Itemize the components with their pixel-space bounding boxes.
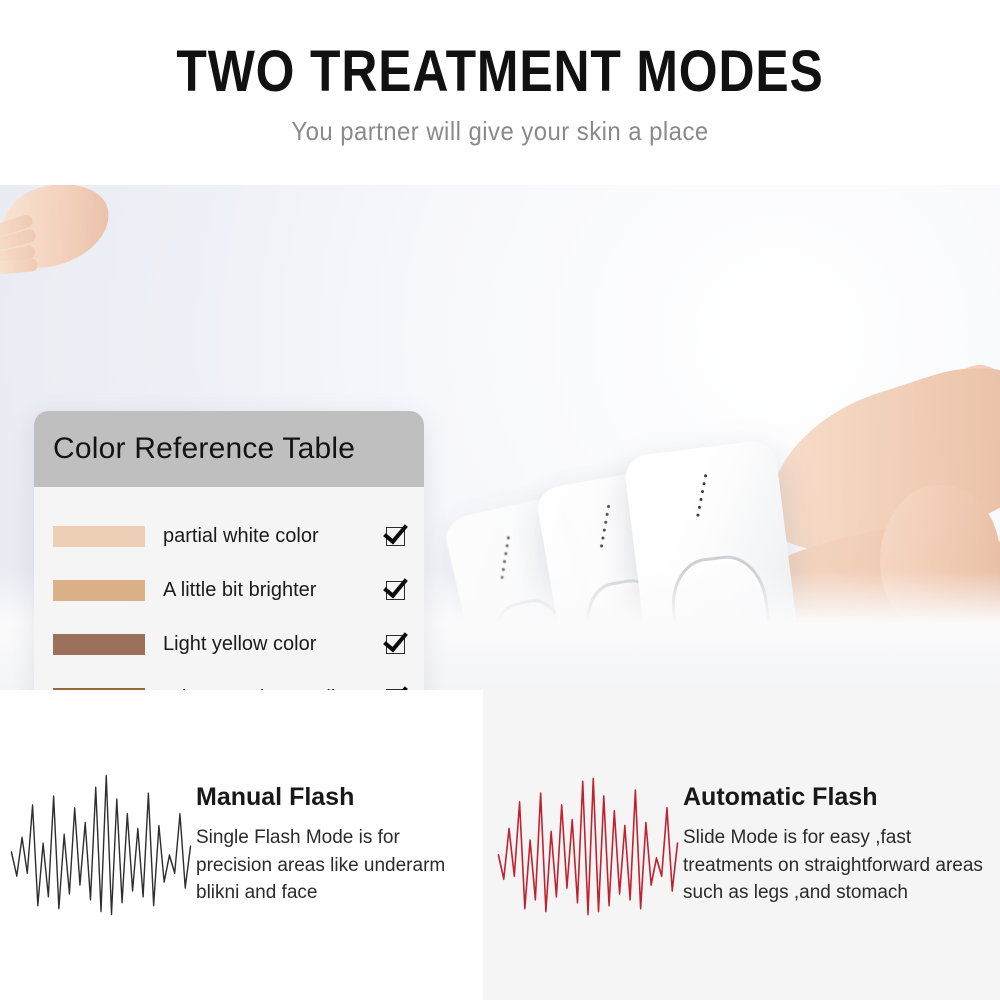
color-reference-table: Color Reference Table partial white colo… xyxy=(34,411,424,690)
automatic-mode-title: Automatic Flash xyxy=(683,783,990,812)
mode-panel-automatic: Automatic Flash Slide Mode is for easy ,… xyxy=(483,690,1000,1000)
indicator-dots-icon xyxy=(600,505,610,548)
checkmark-icon[interactable] xyxy=(386,527,405,546)
color-reference-row: Wheat & Chamomile xyxy=(34,671,424,690)
automatic-mode-text: Automatic Flash Slide Mode is for easy ,… xyxy=(683,783,1000,907)
mode-panel-manual: Manual Flash Single Flash Mode is for pr… xyxy=(0,690,483,1000)
color-reference-row: partial white color xyxy=(34,509,424,563)
waveform-icon xyxy=(8,770,194,920)
treatment-modes-section: Manual Flash Single Flash Mode is for pr… xyxy=(0,690,1000,1000)
checkmark-icon[interactable] xyxy=(386,635,405,654)
automatic-waveform-icon xyxy=(493,770,683,920)
indicator-dots-icon xyxy=(696,474,707,517)
manual-mode-description: Single Flash Mode is for precision areas… xyxy=(196,824,473,907)
product-infographic-page: TWO TREATMENT MODES You partner will giv… xyxy=(0,0,1000,1000)
manual-waveform-icon xyxy=(6,770,196,920)
skin-tone-label: A little bit brighter xyxy=(163,579,386,602)
skin-tone-swatch xyxy=(53,526,145,547)
manual-mode-text: Manual Flash Single Flash Mode is for pr… xyxy=(196,783,483,907)
waveform-icon xyxy=(495,770,681,920)
color-reference-table-header: Color Reference Table xyxy=(34,411,424,487)
skin-tone-label: partial white color xyxy=(163,525,386,548)
hero-section: Color Reference Table partial white colo… xyxy=(0,185,1000,690)
color-reference-row-list: partial white colorA little bit brighter… xyxy=(34,487,424,690)
header-block: TWO TREATMENT MODES You partner will giv… xyxy=(0,0,1000,185)
checkmark-icon[interactable] xyxy=(386,581,405,600)
automatic-mode-description: Slide Mode is for easy ,fast treatments … xyxy=(683,824,990,907)
skin-tone-swatch xyxy=(53,580,145,601)
page-subtitle: You partner will give your skin a place xyxy=(40,116,960,147)
color-reference-table-title: Color Reference Table xyxy=(53,432,355,466)
skin-tone-swatch xyxy=(53,634,145,655)
skin-tone-label: Light yellow color xyxy=(163,633,386,656)
page-title: TWO TREATMENT MODES xyxy=(70,42,930,103)
color-reference-row: Light yellow color xyxy=(34,617,424,671)
color-reference-row: A little bit brighter xyxy=(34,563,424,617)
manual-mode-title: Manual Flash xyxy=(196,783,473,812)
model-hand xyxy=(0,185,117,276)
